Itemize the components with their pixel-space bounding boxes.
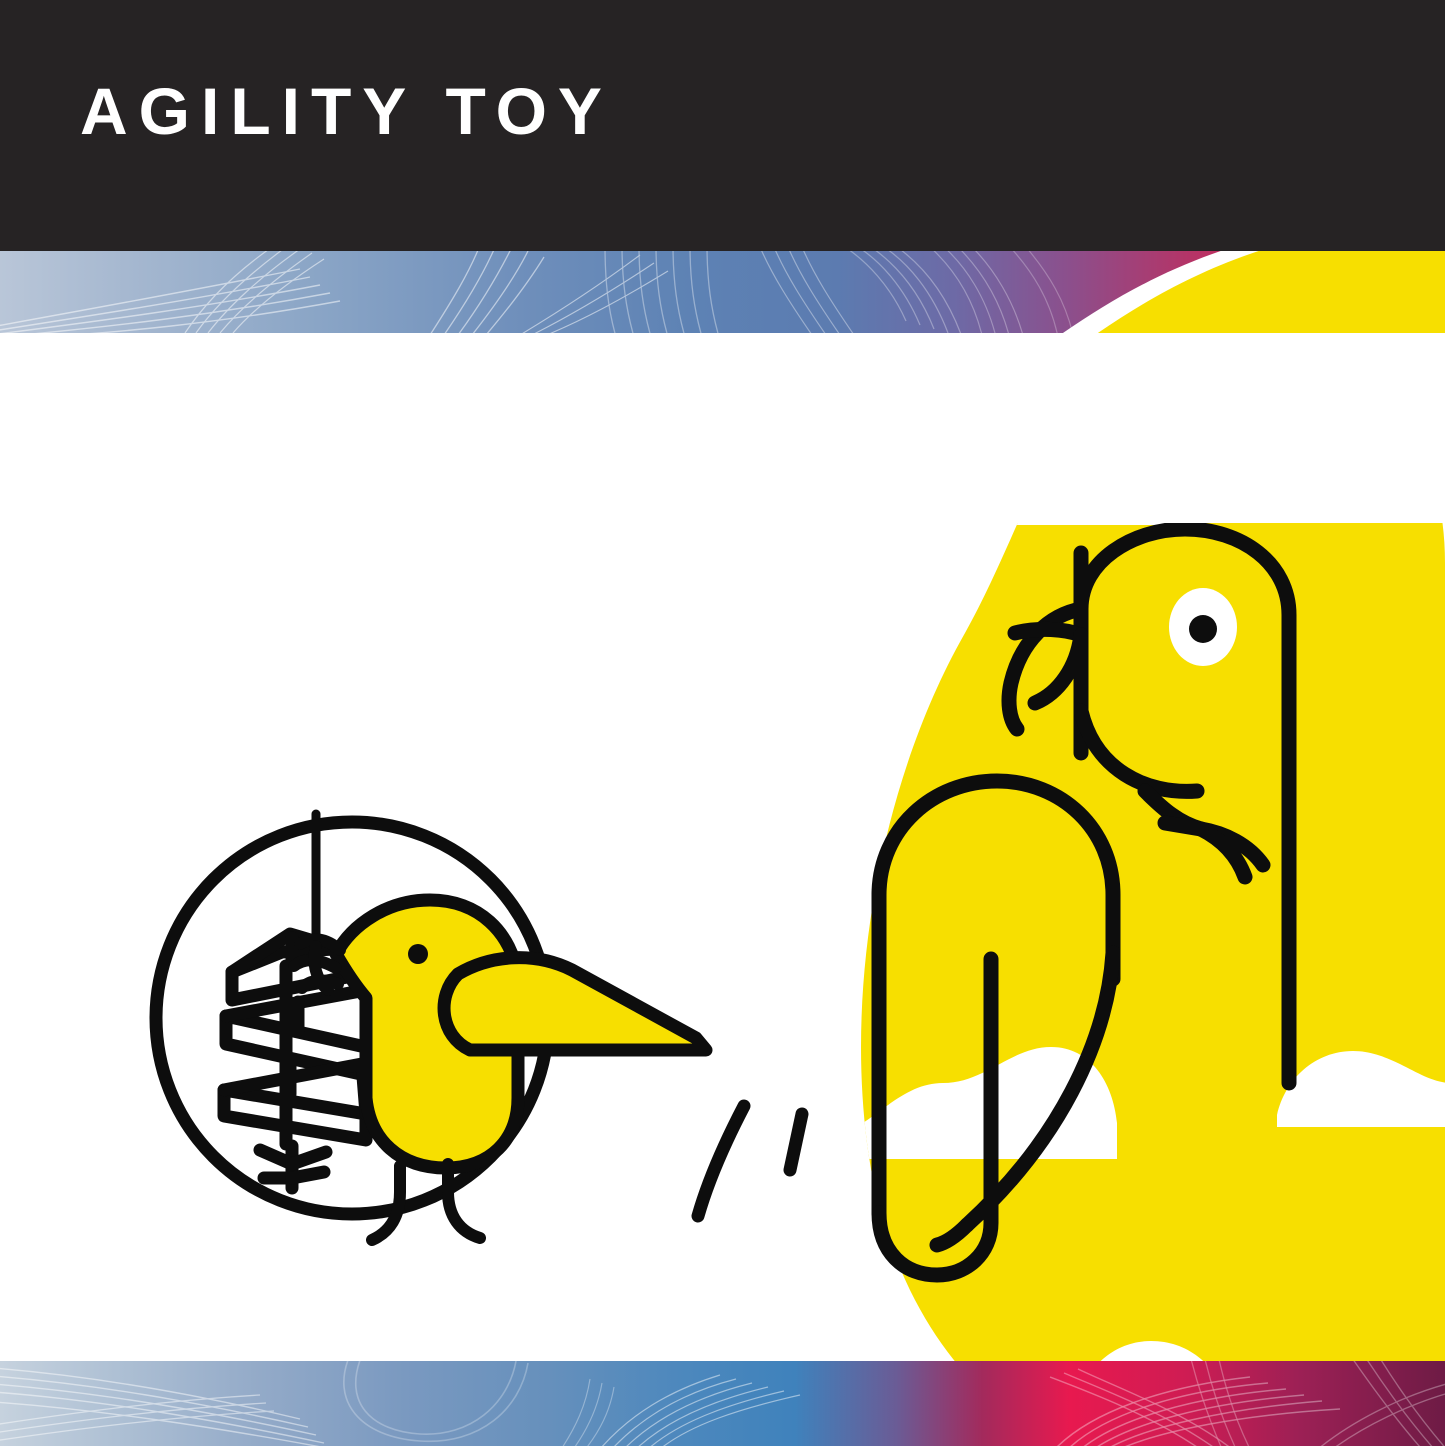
bottom-banner-graphic bbox=[0, 1361, 1445, 1446]
bird-with-spinning-block-toy-icon bbox=[140, 768, 820, 1278]
perched-parrot-illustration bbox=[845, 523, 1445, 1423]
bird-wing bbox=[444, 958, 706, 1050]
parrot-eye bbox=[1169, 588, 1237, 666]
bird-eye bbox=[408, 944, 428, 964]
content-area: The toy spins and spins, engaging bird f… bbox=[0, 333, 1445, 1361]
header-bar: AGILITY TOY bbox=[0, 0, 1445, 251]
toy-icon-graphic bbox=[140, 768, 820, 1278]
page-title: AGILITY TOY bbox=[80, 78, 613, 144]
parrot-line-art bbox=[1009, 529, 1289, 1083]
top-feather-banner bbox=[0, 251, 1445, 333]
product-feature-poster: AGILITY TOY bbox=[0, 0, 1445, 1446]
top-banner-graphic bbox=[0, 251, 1445, 333]
parrot-graphic bbox=[845, 523, 1445, 1423]
cloud-shape bbox=[845, 523, 1445, 1409]
bottom-feather-banner bbox=[0, 1361, 1445, 1446]
bird-claw bbox=[294, 939, 340, 990]
motion-lines bbox=[698, 1106, 820, 1216]
